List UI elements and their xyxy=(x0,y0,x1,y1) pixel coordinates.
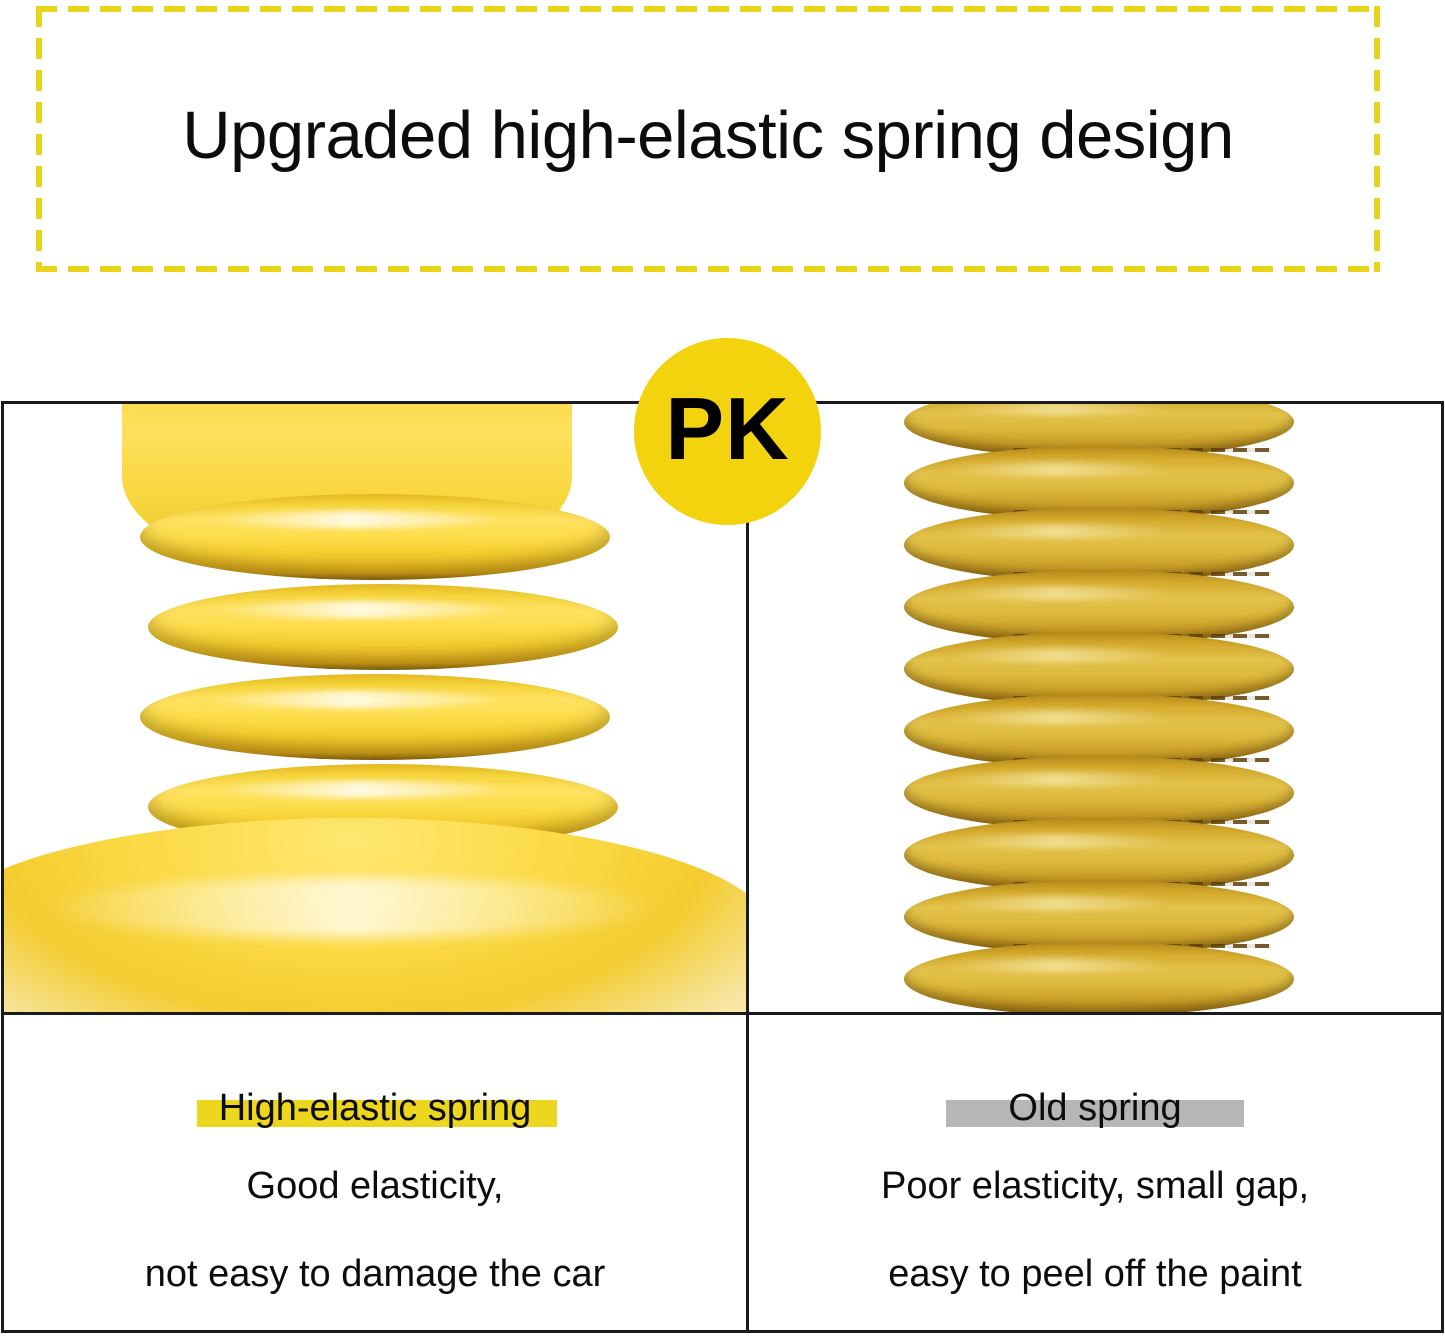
right-caption-line-2: easy to peel off the paint xyxy=(749,1255,1441,1293)
high-elastic-spring-illustration xyxy=(12,404,702,1012)
right-heading: Old spring xyxy=(1008,1087,1181,1129)
left-spring-photo xyxy=(4,404,746,1012)
comparison-panel-right: Old spring Poor elasticity, small gap, e… xyxy=(746,401,1444,1333)
old-spring-illustration xyxy=(904,404,1294,1012)
comparison-panel-left: High-elastic spring Good elasticity, not… xyxy=(1,401,749,1333)
left-heading: High-elastic spring xyxy=(219,1087,532,1129)
spring-coil xyxy=(140,674,610,760)
right-caption: Old spring Poor elasticity, small gap, e… xyxy=(749,1015,1441,1330)
title-banner: Upgraded high-elastic spring design xyxy=(36,6,1380,272)
spring-coil xyxy=(148,584,618,670)
left-caption: High-elastic spring Good elasticity, not… xyxy=(4,1015,746,1330)
right-spring-photo xyxy=(749,404,1441,1012)
right-heading-wrap: Old spring xyxy=(1004,1089,1185,1129)
pk-badge: PK xyxy=(634,338,821,525)
pk-badge-label: PK xyxy=(665,385,789,473)
left-caption-line-1: Good elasticity, xyxy=(4,1167,746,1205)
spring-coil xyxy=(904,942,1294,1012)
left-heading-wrap: High-elastic spring xyxy=(215,1089,536,1129)
spring-coil xyxy=(140,494,610,580)
spring-base xyxy=(4,818,746,1012)
right-caption-line-1: Poor elasticity, small gap, xyxy=(749,1167,1441,1205)
left-caption-line-2: not easy to damage the car xyxy=(4,1255,746,1293)
page-title: Upgraded high-elastic spring design xyxy=(182,102,1233,169)
